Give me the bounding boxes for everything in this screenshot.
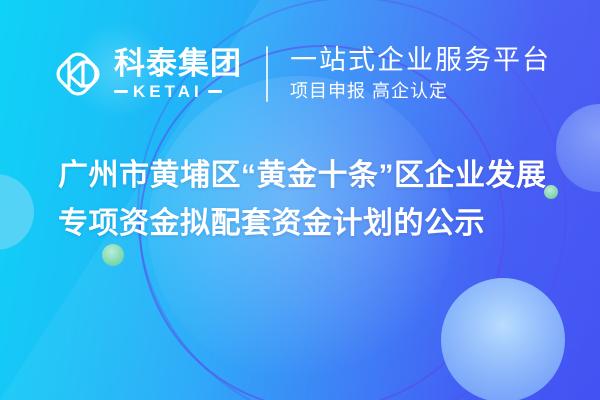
dash-left-icon <box>114 90 128 93</box>
brand-name-en-row: KETAI <box>114 83 242 100</box>
page-title: 广州市黄埔区“黄金十条”区企业发展专项资金拟配套资金计划的公示 <box>58 152 558 248</box>
soft-circle-top-right <box>556 104 600 192</box>
dash-right-icon <box>208 90 222 93</box>
brand-wordmark: 科泰集团 KETAI <box>114 48 242 100</box>
promo-banner: 科泰集团 KETAI 一站式企业服务平台 项目申报 高企认定 广州市黄埔区“黄金… <box>0 0 600 400</box>
brand-name-en: KETAI <box>133 83 203 100</box>
soft-circle-bottom-right <box>441 278 565 400</box>
soft-circle-left <box>0 174 34 250</box>
slogan-block: 一站式企业服务平台 项目申报 高企认定 <box>290 45 551 103</box>
ketai-diamond-logo-icon <box>52 48 104 100</box>
slogan-sub: 项目申报 高企认定 <box>290 81 551 103</box>
brand-name-cn: 科泰集团 <box>114 48 242 81</box>
slogan-main: 一站式企业服务平台 <box>290 45 551 75</box>
banner-header: 科泰集团 KETAI 一站式企业服务平台 项目申报 高企认定 <box>52 38 551 110</box>
header-divider <box>266 46 268 102</box>
